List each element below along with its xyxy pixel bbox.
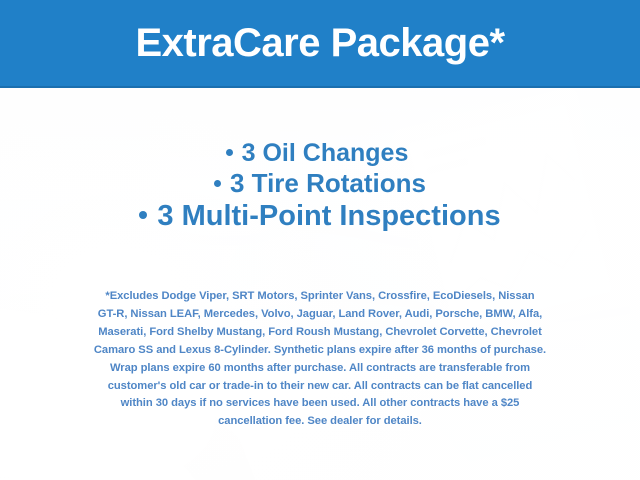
page-title: ExtraCare Package* <box>135 23 504 63</box>
disclaimer-line: Maserati, Ford Shelby Mustang, Ford Rous… <box>28 324 612 342</box>
benefit-label: 3 Multi-Point Inspections <box>157 199 500 233</box>
bullet-dot-icon <box>214 180 221 187</box>
disclaimer-line: Wrap plans expire 60 months after purcha… <box>28 360 612 378</box>
benefit-label: 3 Oil Changes <box>242 139 409 169</box>
bullet-dot-icon <box>139 211 147 219</box>
disclaimer-line: within 30 days if no services have been … <box>28 395 612 413</box>
disclaimer-line: customer's old car or trade-in to their … <box>28 378 612 396</box>
disclaimer-line: *Excludes Dodge Viper, SRT Motors, Sprin… <box>28 288 612 306</box>
benefit-label: 3 Tire Rotations <box>230 168 426 199</box>
disclaimer-line: Camaro SS and Lexus 8-Cylinder. Syntheti… <box>28 342 612 360</box>
disclaimer-line: GT-R, Nissan LEAF, Mercedes, Volvo, Jagu… <box>28 306 612 324</box>
benefits-list: 3 Oil Changes 3 Tire Rotations 3 Multi-P… <box>0 139 640 233</box>
bullet-dot-icon <box>226 149 233 156</box>
disclaimer-text: *Excludes Dodge Viper, SRT Motors, Sprin… <box>28 288 612 431</box>
extracare-package-ad: ExtraCare Package* 3 Oil Changes 3 Tire … <box>0 0 640 480</box>
list-item: 3 Multi-Point Inspections <box>0 199 640 233</box>
list-item: 3 Tire Rotations <box>0 168 640 199</box>
list-item: 3 Oil Changes <box>0 139 640 169</box>
disclaimer-line: cancellation fee. See dealer for details… <box>28 413 612 431</box>
header-banner: ExtraCare Package* <box>0 0 640 88</box>
